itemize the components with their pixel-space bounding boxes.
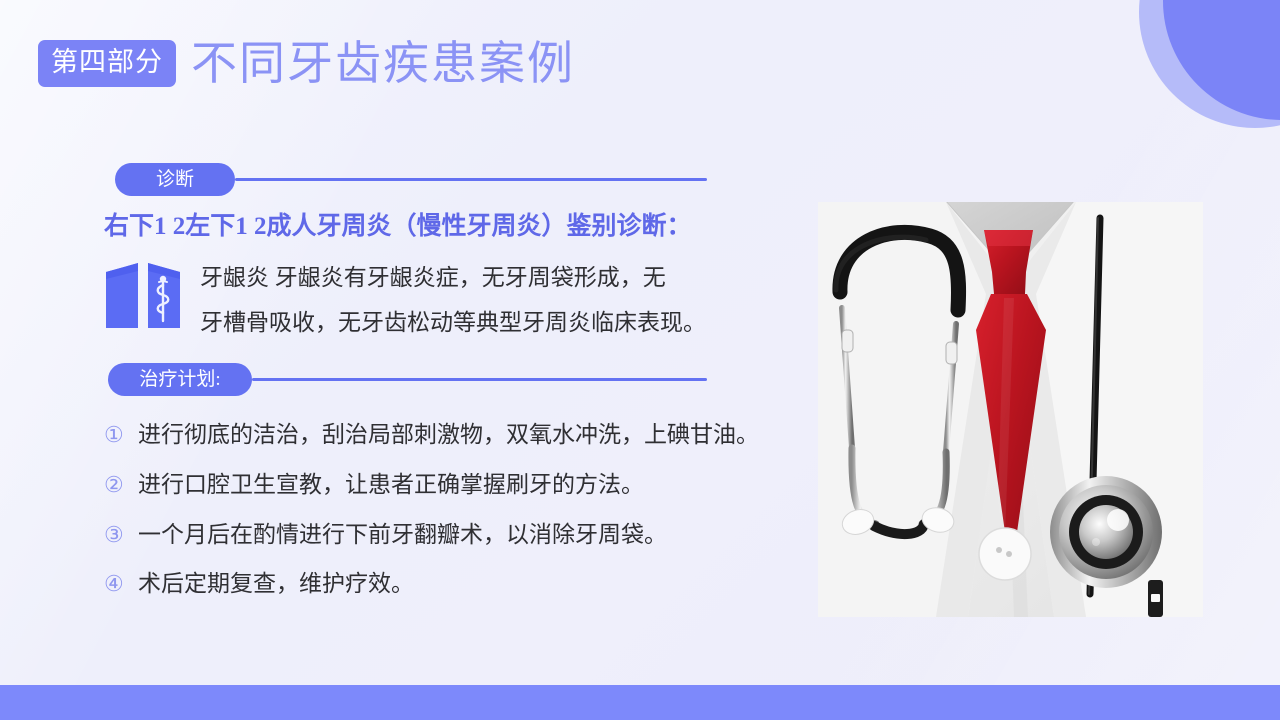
diagnosis-body-text: 牙龈炎 牙龈炎有牙龈炎症，无牙周袋形成，无 牙槽骨吸收，无牙齿松动等典型牙周炎临…	[200, 256, 720, 346]
diagnosis-body-line-1: 牙龈炎 牙龈炎有牙龈炎症，无牙周袋形成，无	[200, 256, 720, 301]
list-item: ④ 术后定期复查，维护疗效。	[104, 570, 824, 599]
list-item: ② 进行口腔卫生宣教，让患者正确掌握刷牙的方法。	[104, 471, 824, 500]
diagnosis-pill-label: 诊断	[115, 163, 235, 196]
list-item-number: ①	[104, 421, 138, 449]
treatment-plan-list: ① 进行彻底的洁治，刮治局部刺激物，双氧水冲洗，上碘甘油。 ② 进行口腔卫生宣教…	[104, 421, 824, 620]
list-item-number: ③	[104, 521, 138, 549]
list-item-text: 一个月后在酌情进行下前牙翻瓣术，以消除牙周袋。	[138, 521, 667, 550]
doctor-photo	[818, 202, 1203, 617]
treatment-plan-section-header: 治疗计划:	[108, 363, 707, 396]
corner-circle-front-decoration	[1163, 0, 1280, 120]
list-item: ① 进行彻底的洁治，刮治局部刺激物，双氧水冲洗，上碘甘油。	[104, 421, 824, 450]
section-number-badge: 第四部分	[38, 40, 176, 87]
slide-title-row: 第四部分 不同牙齿疾患案例	[38, 40, 575, 87]
bottom-accent-bar	[0, 685, 1280, 720]
diagnosis-header-rule	[235, 178, 707, 181]
list-item-text: 术后定期复查，维护疗效。	[138, 570, 414, 599]
diagnosis-heading-text: 右下1 2左下1 2成人牙周炎（慢性牙周炎）鉴别诊断：	[104, 211, 692, 244]
medical-book-icon	[104, 259, 182, 333]
diagnosis-section-header: 诊断	[115, 163, 707, 196]
list-item-text: 进行口腔卫生宣教，让患者正确掌握刷牙的方法。	[138, 471, 644, 500]
list-item-number: ②	[104, 471, 138, 499]
list-item-number: ④	[104, 570, 138, 598]
treatment-plan-pill-label: 治疗计划:	[108, 363, 252, 396]
diagnosis-body-line-2: 牙槽骨吸收，无牙齿松动等典型牙周炎临床表现。	[200, 301, 720, 346]
list-item-text: 进行彻底的洁治，刮治局部刺激物，双氧水冲洗，上碘甘油。	[138, 421, 759, 450]
page-title: 不同牙齿疾患案例	[191, 41, 575, 87]
slide-canvas: 第四部分 不同牙齿疾患案例 诊断 右下1 2左下1 2成人牙周炎（慢性牙周炎）鉴…	[0, 0, 1280, 720]
treatment-plan-header-rule	[252, 378, 707, 381]
list-item: ③ 一个月后在酌情进行下前牙翻瓣术，以消除牙周袋。	[104, 521, 824, 550]
